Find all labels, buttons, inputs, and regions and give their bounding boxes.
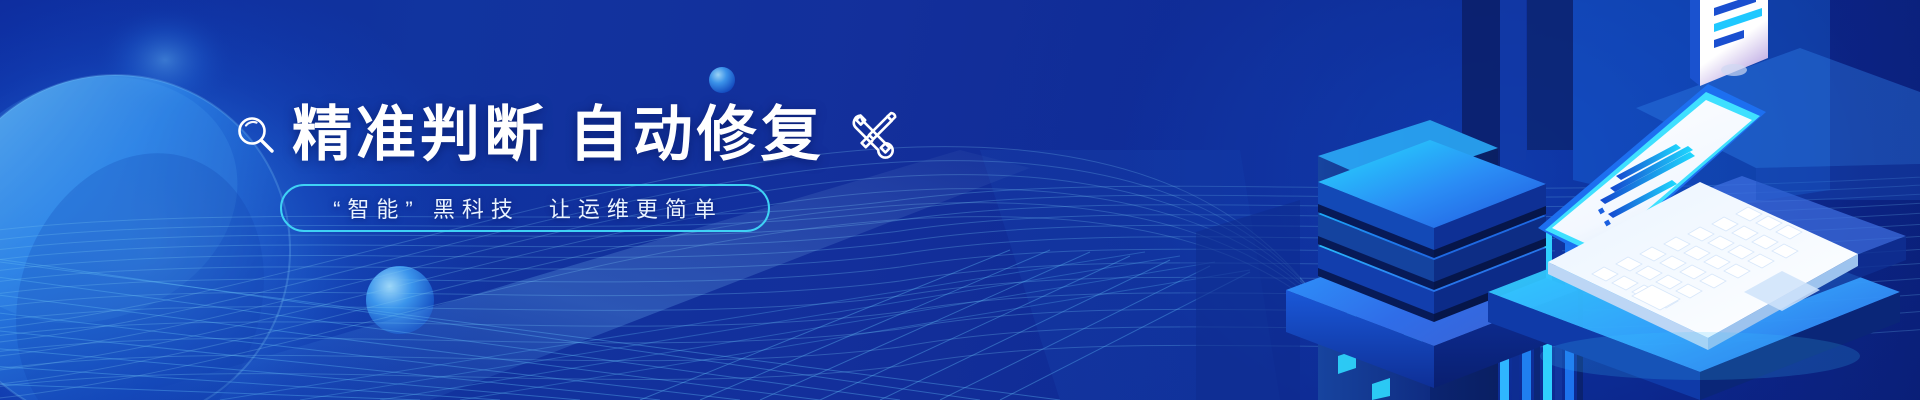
banner-content: 精准判断 自动修复 “智能” 黑科技 让运维更简单	[228, 96, 868, 236]
headline-row: 精准判断 自动修复	[228, 96, 868, 174]
headline-title: 精准判断 自动修复	[292, 102, 825, 168]
wrench-screwdriver-icon	[845, 107, 901, 163]
subtitle-text: “智能” 黑科技 让运维更简单	[327, 192, 723, 224]
search-magnifier-icon	[234, 113, 278, 157]
subtitle-pill: “智能” 黑科技 让运维更简单	[280, 184, 770, 232]
promo-banner: 精准判断 自动修复 “智能” 黑科技 让运维更简单	[0, 0, 1920, 400]
